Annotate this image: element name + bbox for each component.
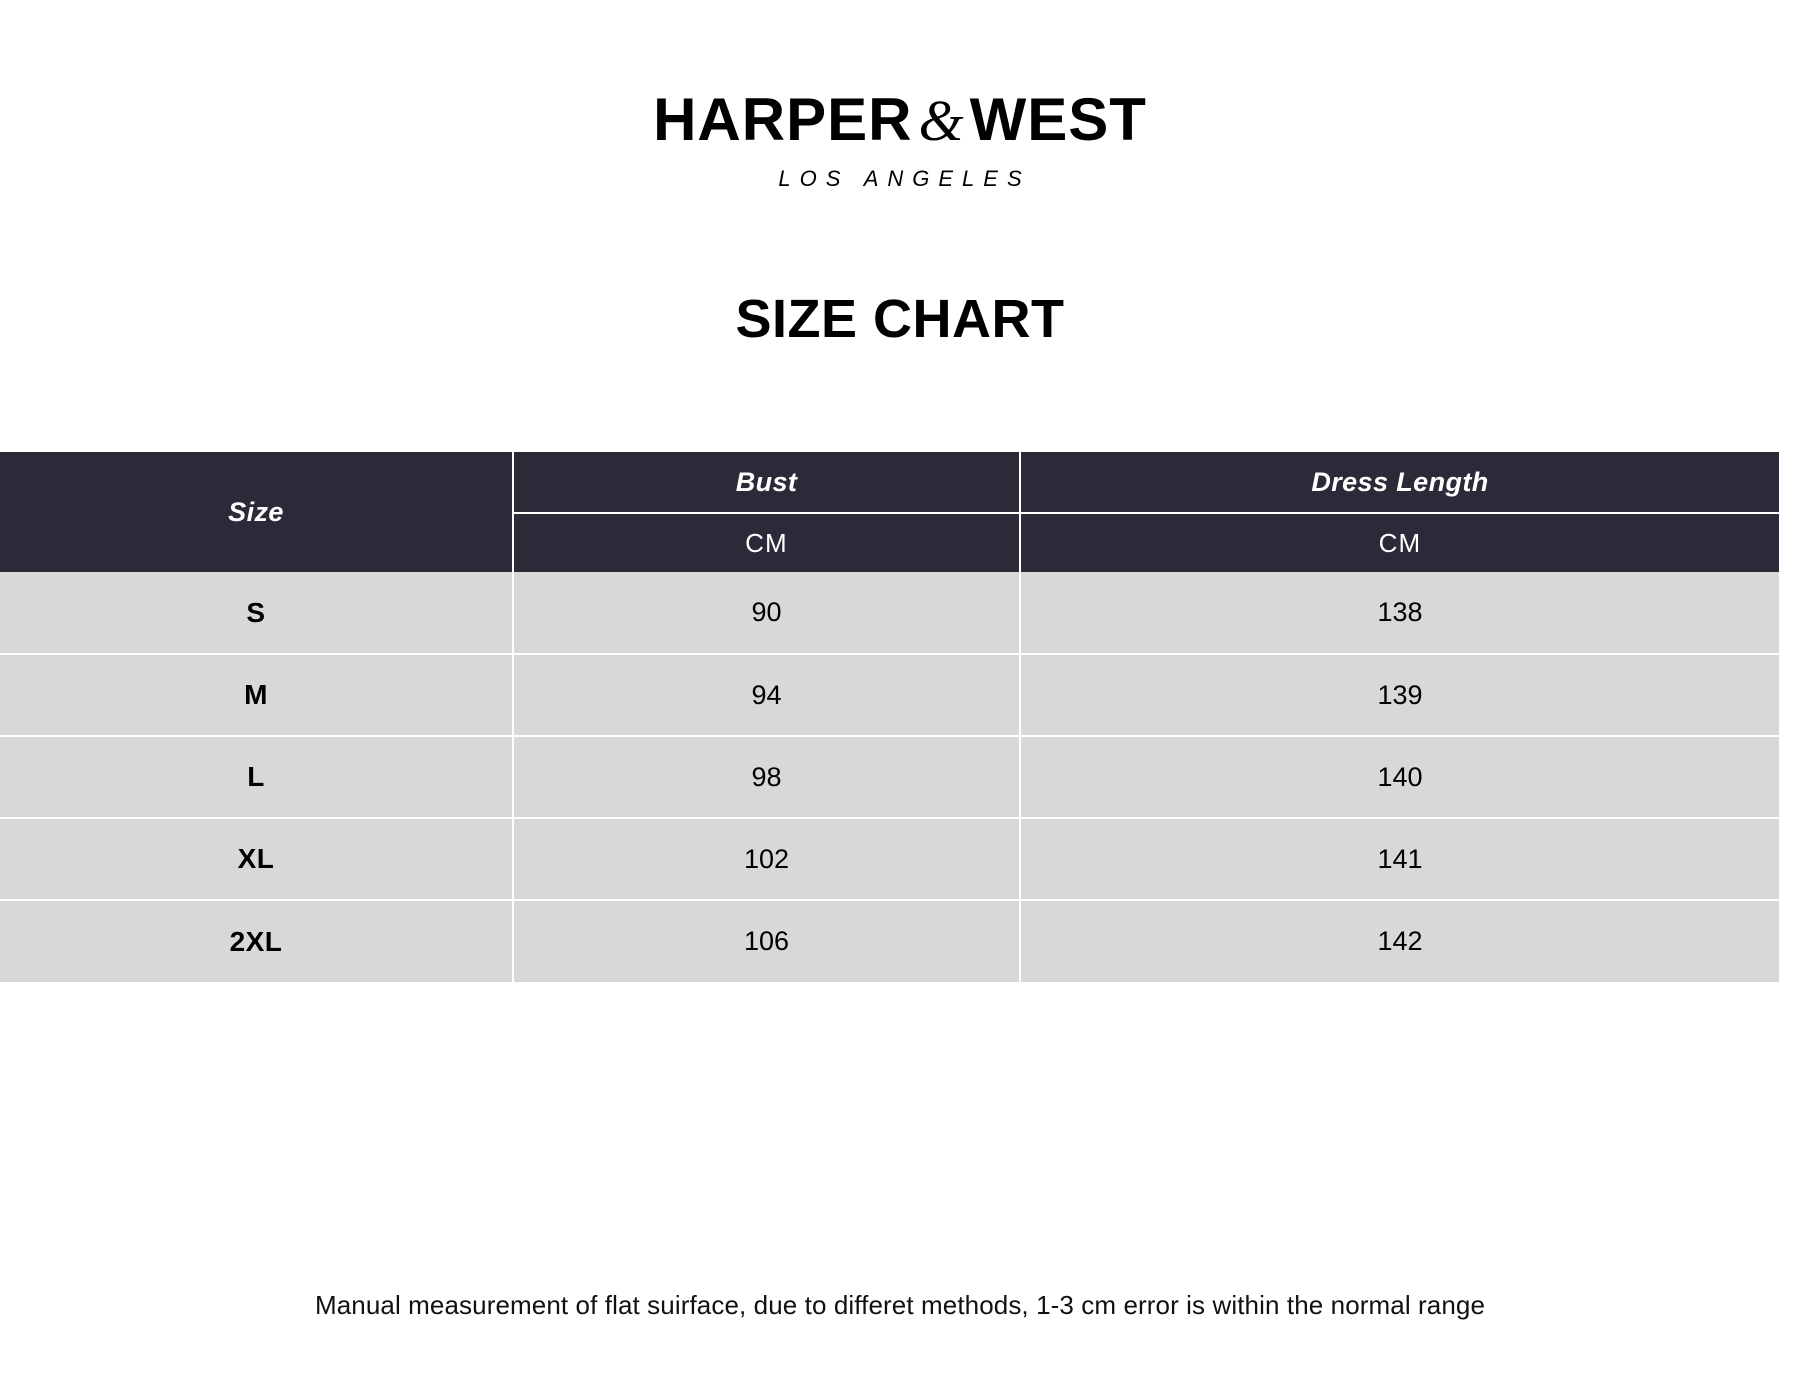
cell-size: M [0, 654, 513, 736]
brand-ampersand: & [912, 88, 969, 153]
table-header-row-group: Size Bust Dress Length [0, 452, 1779, 513]
cell-size: S [0, 572, 513, 654]
table-row: L 98 140 [0, 736, 1779, 818]
unit-header-dress-length: CM [1020, 513, 1779, 572]
brand-tagline: LOS ANGELES [0, 166, 1800, 192]
column-header-dress-length: Dress Length [1020, 452, 1779, 513]
brand-name: HARPER&WEST [0, 88, 1800, 152]
page-title: SIZE CHART [0, 288, 1800, 350]
table-row: XL 102 141 [0, 818, 1779, 900]
unit-header-bust: CM [513, 513, 1020, 572]
size-chart-table-wrapper: Size Bust Dress Length CM CM S 90 138 M … [0, 452, 1779, 982]
cell-dress-length: 142 [1020, 900, 1779, 982]
brand-name-part1: HARPER [653, 86, 912, 153]
table-body: S 90 138 M 94 139 L 98 140 XL 102 141 2X… [0, 572, 1779, 982]
cell-dress-length: 138 [1020, 572, 1779, 654]
cell-size: L [0, 736, 513, 818]
table-row: M 94 139 [0, 654, 1779, 736]
cell-bust: 106 [513, 900, 1020, 982]
cell-size: XL [0, 818, 513, 900]
cell-dress-length: 141 [1020, 818, 1779, 900]
column-header-bust: Bust [513, 452, 1020, 513]
cell-bust: 102 [513, 818, 1020, 900]
size-chart-table: Size Bust Dress Length CM CM S 90 138 M … [0, 452, 1779, 982]
cell-dress-length: 140 [1020, 736, 1779, 818]
cell-size: 2XL [0, 900, 513, 982]
brand-name-part2: WEST [970, 86, 1147, 153]
cell-dress-length: 139 [1020, 654, 1779, 736]
brand-block: HARPER&WEST LOS ANGELES [0, 0, 1800, 192]
table-row: 2XL 106 142 [0, 900, 1779, 982]
cell-bust: 94 [513, 654, 1020, 736]
column-header-size: Size [0, 452, 513, 572]
measurement-disclaimer: Manual measurement of flat suirface, due… [0, 1290, 1800, 1321]
cell-bust: 98 [513, 736, 1020, 818]
table-header: Size Bust Dress Length CM CM [0, 452, 1779, 572]
cell-bust: 90 [513, 572, 1020, 654]
table-row: S 90 138 [0, 572, 1779, 654]
